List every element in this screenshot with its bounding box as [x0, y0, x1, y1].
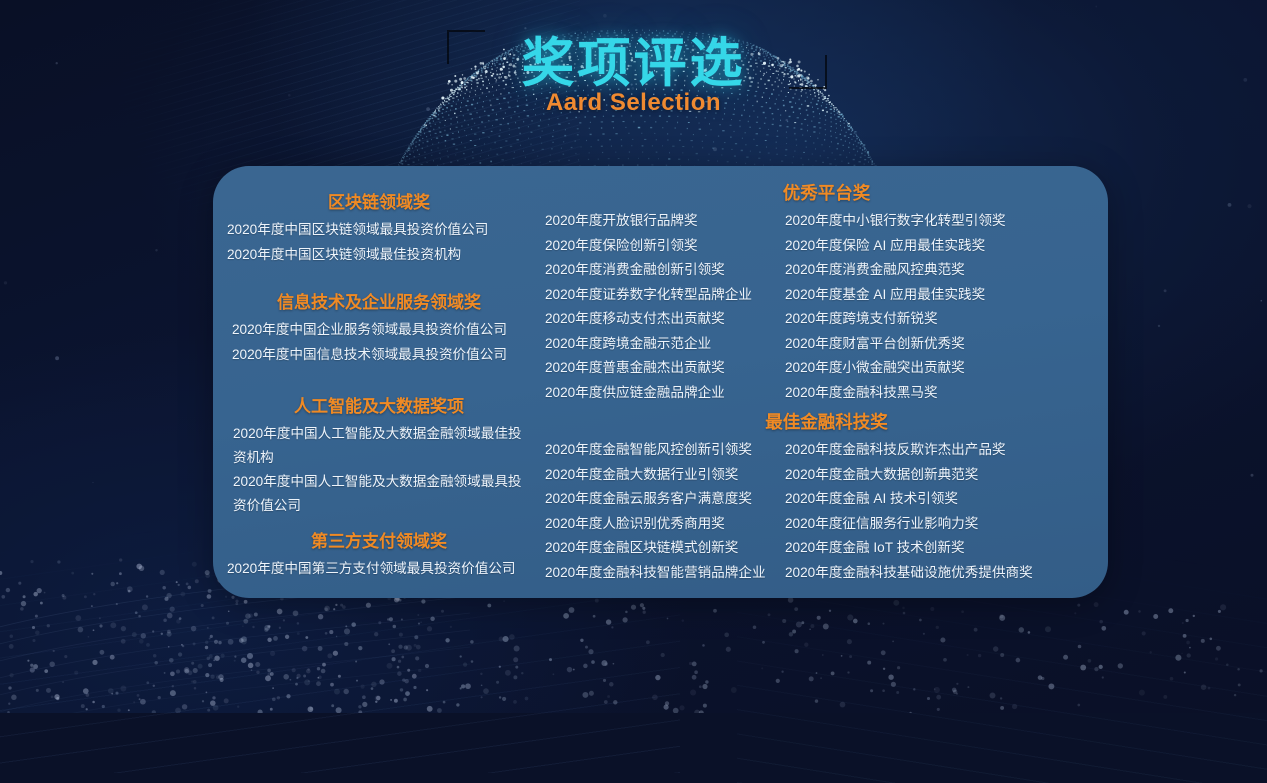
award-item: 2020年度保险创新引领奖 [545, 234, 785, 259]
award-item-row: 2020年度供应链金融品牌企业2020年度金融科技黑马奖 [545, 381, 1108, 406]
award-item: 2020年度移动支付杰出贡献奖 [545, 307, 785, 332]
award-item: 2020年度跨境支付新锐奖 [785, 307, 1108, 332]
award-item-row: 2020年度移动支付杰出贡献奖2020年度跨境支付新锐奖 [545, 307, 1108, 332]
award-item-list: 2020年度中国区块链领域最具投资价值公司2020年度中国区块链领域最佳投资机构 [213, 218, 545, 267]
award-item-row: 2020年度金融区块链模式创新奖2020年度金融 IoT 技术创新奖 [545, 536, 1108, 561]
award-group-heading: 最佳金融科技奖 [545, 409, 1108, 434]
award-item: 2020年度中国人工智能及大数据金融领域最佳投资机构 [213, 422, 545, 470]
page-title: 奖项评选 [0, 21, 1267, 97]
award-item-row: 2020年度普惠金融杰出贡献奖2020年度小微金融突出贡献奖 [545, 356, 1108, 381]
award-group-heading: 优秀平台奖 [545, 180, 1108, 205]
award-item: 2020年度保险 AI 应用最佳实践奖 [785, 234, 1108, 259]
award-item-row: 2020年度保险创新引领奖2020年度保险 AI 应用最佳实践奖 [545, 234, 1108, 259]
award-item: 2020年度中国区块链领域最佳投资机构 [213, 243, 545, 268]
award-item: 2020年度人脸识别优秀商用奖 [545, 512, 785, 537]
award-item: 2020年度小微金融突出贡献奖 [785, 356, 1108, 381]
award-item: 2020年度中国信息技术领域最具投资价值公司 [213, 343, 545, 368]
award-item: 2020年度金融大数据创新典范奖 [785, 463, 1108, 488]
award-group: 信息技术及企业服务领域奖2020年度中国企业服务领域最具投资价值公司2020年度… [213, 288, 545, 367]
award-item-list: 2020年度开放银行品牌奖2020年度中小银行数字化转型引领奖2020年度保险创… [545, 209, 1108, 405]
award-item: 2020年度金融云服务客户满意度奖 [545, 487, 785, 512]
award-item: 2020年度金融大数据行业引领奖 [545, 463, 785, 488]
award-item: 2020年度消费金融风控典范奖 [785, 258, 1108, 283]
award-group-heading: 信息技术及企业服务领域奖 [213, 288, 545, 313]
award-item: 2020年度中国企业服务领域最具投资价值公司 [213, 318, 545, 343]
title-block: 奖项评选 Aard Selection [0, 0, 1267, 150]
award-item: 2020年度金融智能风控创新引领奖 [545, 438, 785, 463]
award-item: 2020年度金融 AI 技术引领奖 [785, 487, 1108, 512]
award-item-list: 2020年度中国第三方支付领域最具投资价值公司 [213, 557, 545, 582]
award-item-row: 2020年度金融大数据行业引领奖2020年度金融大数据创新典范奖 [545, 463, 1108, 488]
award-item-row: 2020年度金融智能风控创新引领奖2020年度金融科技反欺诈杰出产品奖 [545, 438, 1108, 463]
award-item: 2020年度金融区块链模式创新奖 [545, 536, 785, 561]
award-group-heading: 第三方支付领域奖 [213, 527, 545, 552]
award-item: 2020年度金融科技黑马奖 [785, 381, 1108, 406]
award-item-list: 2020年度中国企业服务领域最具投资价值公司2020年度中国信息技术领域最具投资… [213, 318, 545, 367]
award-item-row: 2020年度消费金融创新引领奖2020年度消费金融风控典范奖 [545, 258, 1108, 283]
award-group: 第三方支付领域奖2020年度中国第三方支付领域最具投资价值公司 [213, 527, 545, 582]
award-item-row: 2020年度开放银行品牌奖2020年度中小银行数字化转型引领奖 [545, 209, 1108, 234]
award-item-row: 2020年度金融云服务客户满意度奖2020年度金融 AI 技术引领奖 [545, 487, 1108, 512]
award-item: 2020年度供应链金融品牌企业 [545, 381, 785, 406]
awards-left-column: 区块链领域奖2020年度中国区块链领域最具投资价值公司2020年度中国区块链领域… [213, 166, 545, 598]
award-group: 区块链领域奖2020年度中国区块链领域最具投资价值公司2020年度中国区块链领域… [213, 188, 545, 267]
award-group: 最佳金融科技奖2020年度金融智能风控创新引领奖2020年度金融科技反欺诈杰出产… [545, 409, 1108, 585]
award-item-row: 2020年度金融科技智能营销品牌企业2020年度金融科技基础设施优秀提供商奖 [545, 561, 1108, 586]
award-item: 2020年度消费金融创新引领奖 [545, 258, 785, 283]
award-group: 人工智能及大数据奖项2020年度中国人工智能及大数据金融领域最佳投资机构2020… [213, 392, 545, 518]
award-item: 2020年度中国第三方支付领域最具投资价值公司 [213, 557, 545, 582]
award-item: 2020年度跨境金融示范企业 [545, 332, 785, 357]
award-item-row: 2020年度人脸识别优秀商用奖2020年度征信服务行业影响力奖 [545, 512, 1108, 537]
award-group: 优秀平台奖2020年度开放银行品牌奖2020年度中小银行数字化转型引领奖2020… [545, 180, 1108, 405]
page-subtitle: Aard Selection [0, 89, 1267, 117]
award-item-list: 2020年度中国人工智能及大数据金融领域最佳投资机构2020年度中国人工智能及大… [213, 422, 545, 518]
award-item: 2020年度开放银行品牌奖 [545, 209, 785, 234]
awards-panel: 区块链领域奖2020年度中国区块链领域最具投资价值公司2020年度中国区块链领域… [213, 166, 1108, 598]
award-group-heading: 区块链领域奖 [213, 188, 545, 213]
award-item: 2020年度金融科技基础设施优秀提供商奖 [785, 561, 1108, 586]
award-item: 2020年度金融科技反欺诈杰出产品奖 [785, 438, 1108, 463]
award-item: 2020年度征信服务行业影响力奖 [785, 512, 1108, 537]
award-item-list: 2020年度金融智能风控创新引领奖2020年度金融科技反欺诈杰出产品奖2020年… [545, 438, 1108, 585]
award-item: 2020年度财富平台创新优秀奖 [785, 332, 1108, 357]
award-item: 2020年度中小银行数字化转型引领奖 [785, 209, 1108, 234]
award-item: 2020年度普惠金融杰出贡献奖 [545, 356, 785, 381]
award-item: 2020年度中国人工智能及大数据金融领域最具投资价值公司 [213, 470, 545, 518]
award-group-heading: 人工智能及大数据奖项 [213, 392, 545, 417]
award-item: 2020年度证券数字化转型品牌企业 [545, 283, 785, 308]
awards-right-column: 优秀平台奖2020年度开放银行品牌奖2020年度中小银行数字化转型引领奖2020… [545, 166, 1108, 598]
award-item: 2020年度金融科技智能营销品牌企业 [545, 561, 785, 586]
award-item: 2020年度中国区块链领域最具投资价值公司 [213, 218, 545, 243]
award-item-row: 2020年度证券数字化转型品牌企业2020年度基金 AI 应用最佳实践奖 [545, 283, 1108, 308]
award-item-row: 2020年度跨境金融示范企业2020年度财富平台创新优秀奖 [545, 332, 1108, 357]
award-item: 2020年度基金 AI 应用最佳实践奖 [785, 283, 1108, 308]
award-item: 2020年度金融 IoT 技术创新奖 [785, 536, 1108, 561]
